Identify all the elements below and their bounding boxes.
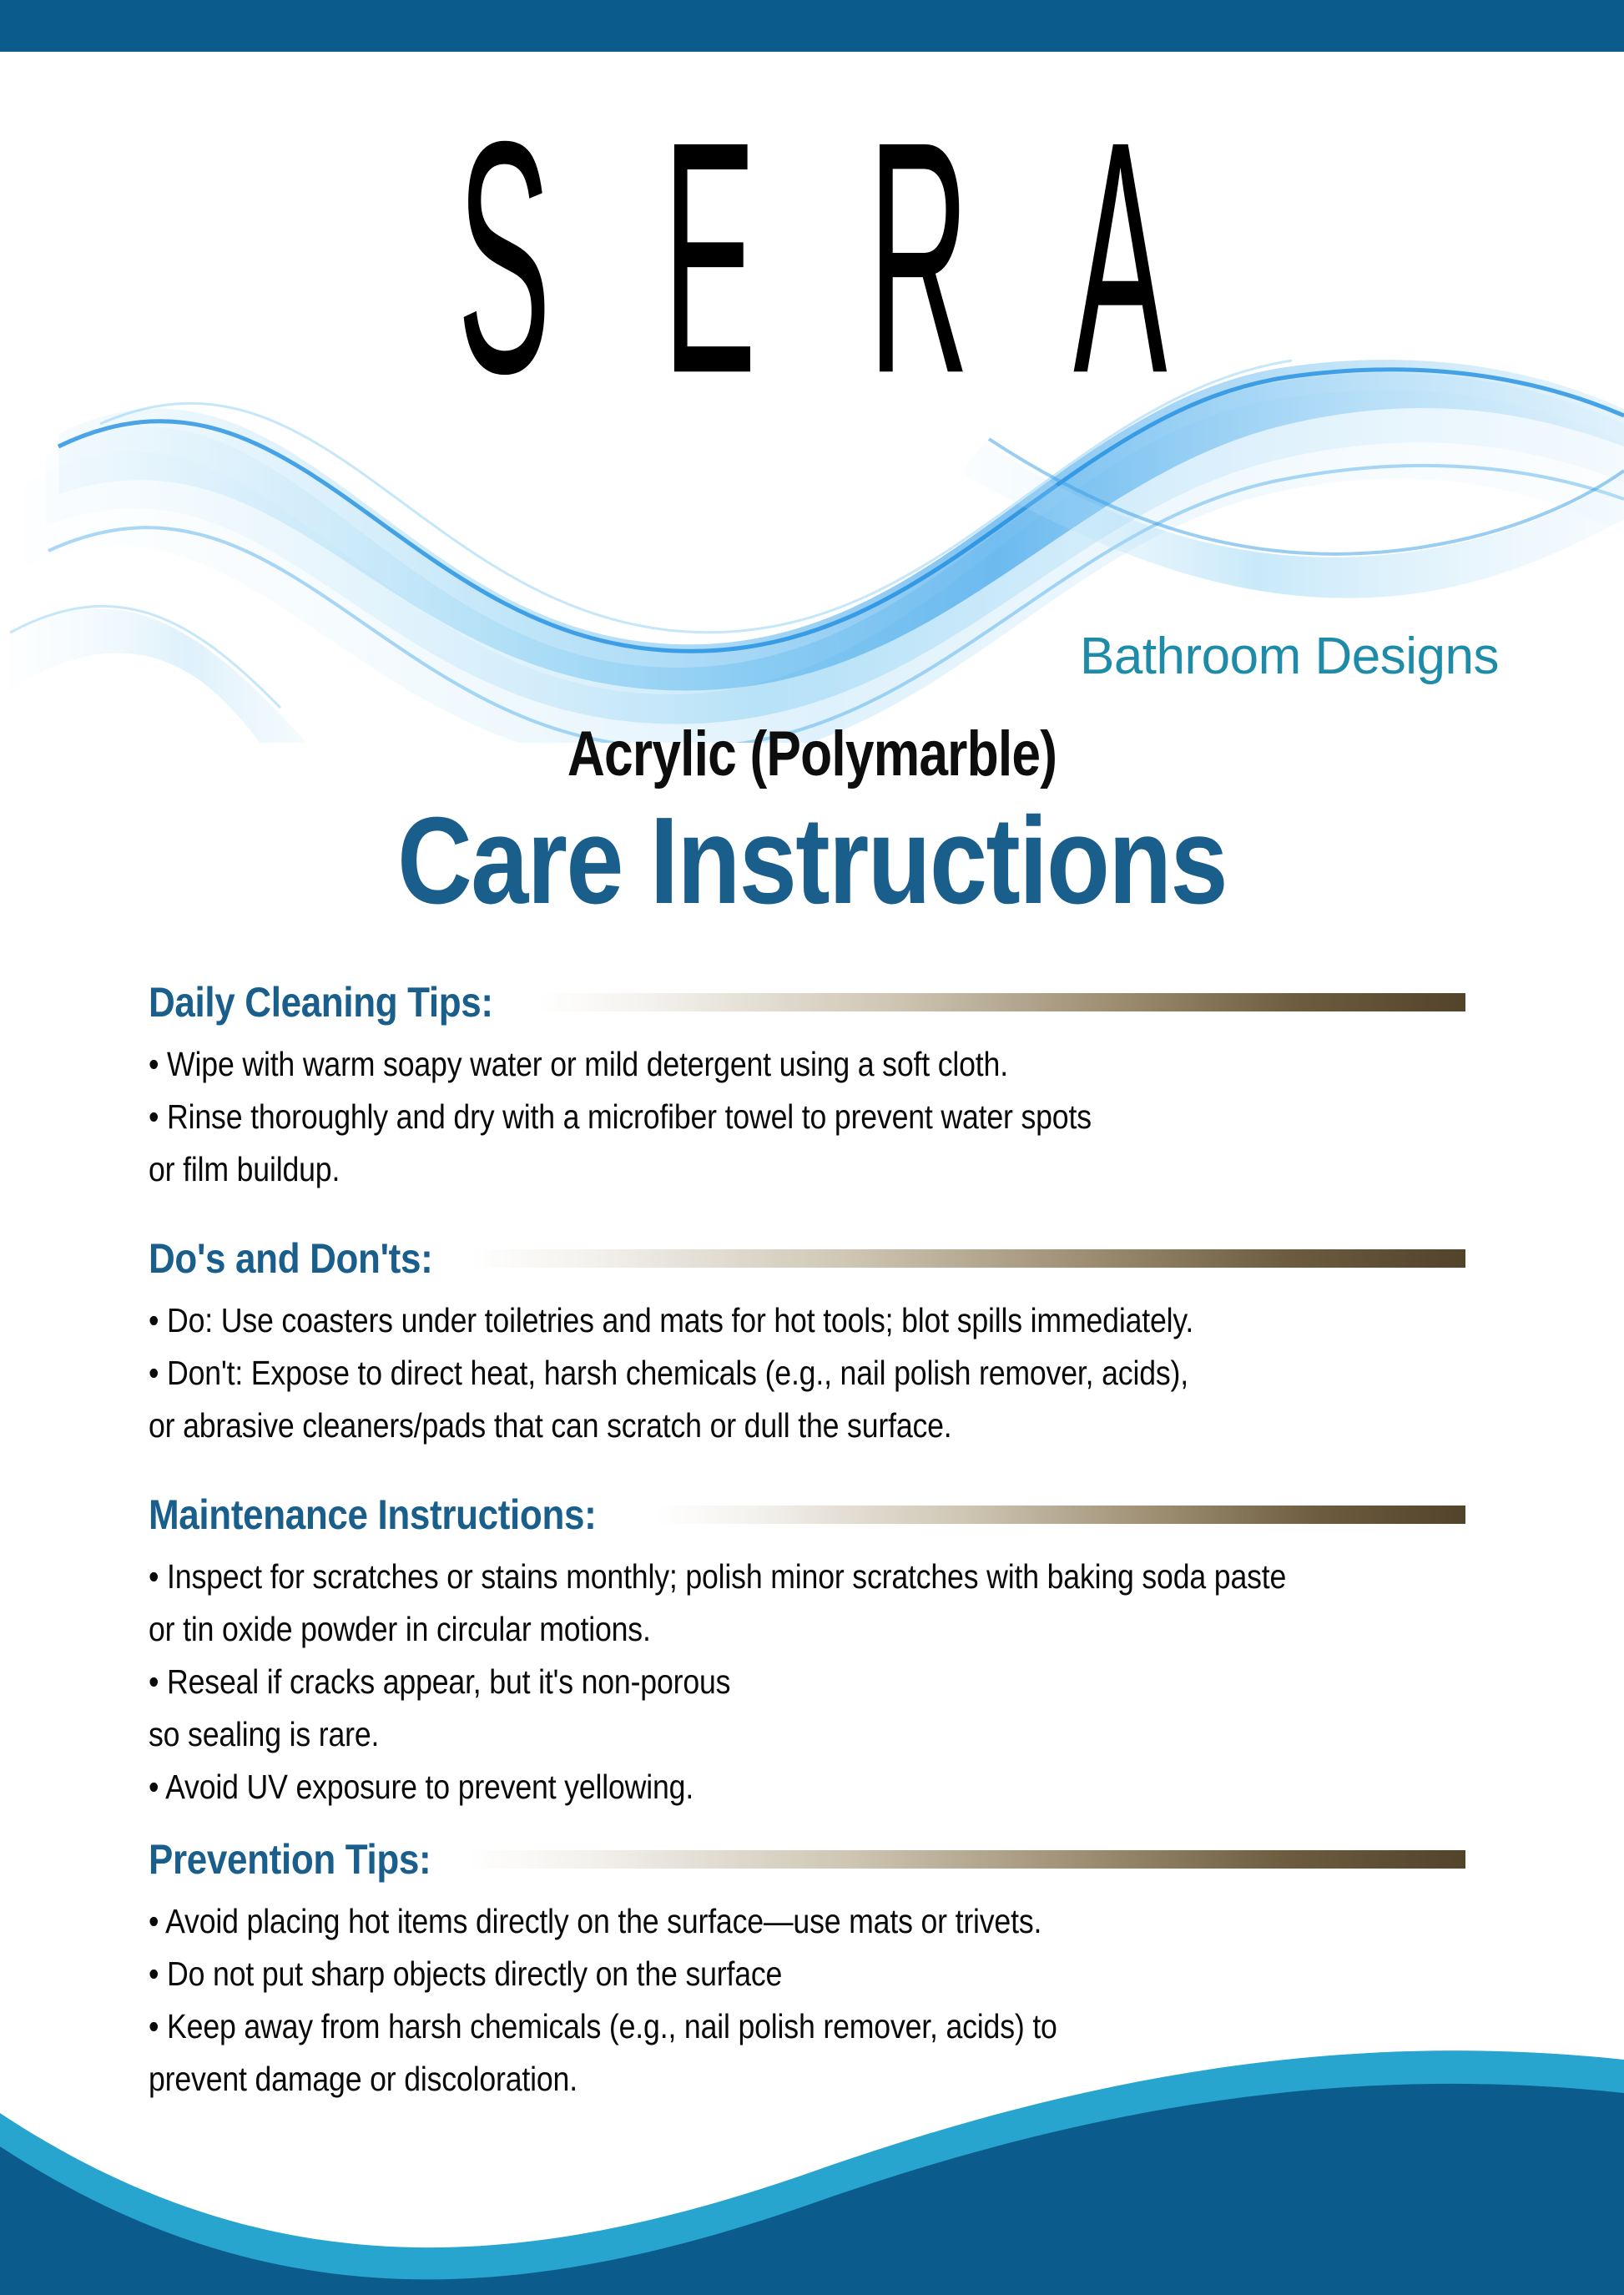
section-dos-and-donts: Do's and Don'ts: • Do: Use coasters unde… xyxy=(149,1234,1484,1452)
section-body: • Inspect for scratches or stains monthl… xyxy=(149,1551,1484,1813)
section-divider-rule xyxy=(538,993,1465,1011)
poster-page: S E R A Bathroom Designs Acrylic (Polyma… xyxy=(0,0,1624,2295)
brand-name: S E R A xyxy=(421,92,1203,422)
bullet-line: • Do not put sharp objects directly on t… xyxy=(149,1948,1310,2000)
bullet-line: • Wipe with warm soapy water or mild det… xyxy=(149,1038,1310,1091)
section-gap xyxy=(149,1813,1484,1835)
section-maintenance-instructions: Maintenance Instructions: • Inspect for … xyxy=(149,1490,1484,1813)
bullet-line: or abrasive cleaners/pads that can scrat… xyxy=(149,1400,1310,1452)
section-heading: Prevention Tips: xyxy=(149,1835,431,1884)
sections-container: Daily Cleaning Tips: • Wipe with warm so… xyxy=(149,978,1484,2106)
section-divider-rule xyxy=(467,1850,1465,1869)
bullet-line: prevent damage or discoloration. xyxy=(149,2053,1310,2106)
bullet-line: • Avoid placing hot items directly on th… xyxy=(149,1895,1310,1948)
section-gap xyxy=(149,1452,1484,1490)
bullet-line: or film buildup. xyxy=(149,1143,1310,1196)
section-divider-rule xyxy=(656,1506,1465,1524)
page-title: Care Instructions xyxy=(130,794,1495,928)
brand-logo: S E R A xyxy=(0,92,1624,401)
poster-subtitle: Acrylic (Polymarble) xyxy=(146,719,1478,789)
bullet-line: • Reseal if cracks appear, but it's non-… xyxy=(149,1656,1310,1708)
section-divider-rule xyxy=(470,1249,1465,1268)
section-body: • Avoid placing hot items directly on th… xyxy=(149,1895,1484,2106)
section-daily-cleaning-tips: Daily Cleaning Tips: • Wipe with warm so… xyxy=(149,978,1484,1196)
top-accent-bar xyxy=(0,0,1624,52)
bullet-line: • Rinse thoroughly and dry with a microf… xyxy=(149,1091,1310,1143)
section-header: Prevention Tips: xyxy=(149,1835,1465,1884)
section-heading: Daily Cleaning Tips: xyxy=(149,978,493,1026)
bullet-line: • Keep away from harsh chemicals (e.g., … xyxy=(149,2000,1310,2053)
section-body: • Wipe with warm soapy water or mild det… xyxy=(149,1038,1484,1196)
section-heading: Maintenance Instructions: xyxy=(149,1490,596,1539)
bullet-line: • Do: Use coasters under toiletries and … xyxy=(149,1294,1310,1347)
bullet-line: • Don't: Expose to direct heat, harsh ch… xyxy=(149,1347,1310,1400)
bullet-line: or tin oxide powder in circular motions. xyxy=(149,1603,1310,1656)
bullet-line: so sealing is rare. xyxy=(149,1708,1310,1761)
brand-tagline: Bathroom Designs xyxy=(1080,628,1499,686)
section-header: Do's and Don'ts: xyxy=(149,1234,1465,1283)
section-prevention-tips: Prevention Tips: • Avoid placing hot ite… xyxy=(149,1835,1484,2106)
bullet-line: • Avoid UV exposure to prevent yellowing… xyxy=(149,1761,1310,1813)
bullet-line: • Inspect for scratches or stains monthl… xyxy=(149,1551,1310,1603)
section-body: • Do: Use coasters under toiletries and … xyxy=(149,1294,1484,1452)
section-heading: Do's and Don'ts: xyxy=(149,1234,432,1283)
section-header: Maintenance Instructions: xyxy=(149,1490,1465,1539)
section-header: Daily Cleaning Tips: xyxy=(149,978,1465,1026)
section-gap xyxy=(149,1196,1484,1234)
